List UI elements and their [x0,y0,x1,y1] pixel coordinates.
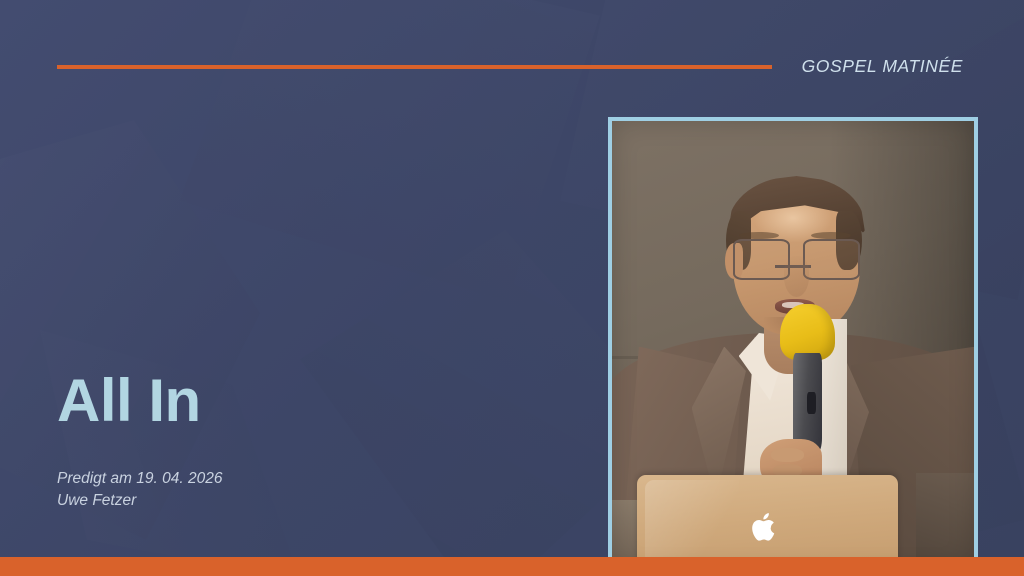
microphone-switch [807,392,816,415]
eyebrow-right [811,232,851,239]
speaker-photo [612,121,974,572]
slide-title: All In [57,371,201,431]
speaker-name-line: Uwe Fetzer [57,490,222,512]
presentation-slide: GOSPEL MATINÉE All In Predigt am 19. 04.… [0,0,1024,576]
sermon-date-line: Predigt am 19. 04. 2026 [57,468,222,490]
finger [771,448,804,462]
eyeglass-lens-left [733,239,790,280]
nose [784,256,809,297]
apple-logo-icon [750,509,779,545]
microphone-windscreen-icon [780,304,834,360]
eyeglass-lens-right [803,239,860,280]
speaker-photo-frame [608,117,978,576]
eyebrow-left [739,232,779,239]
bottom-accent-band [0,557,1024,576]
slide-subtitle: Predigt am 19. 04. 2026 Uwe Fetzer [57,468,222,513]
event-series-label: GOSPEL MATINÉE [640,56,963,77]
